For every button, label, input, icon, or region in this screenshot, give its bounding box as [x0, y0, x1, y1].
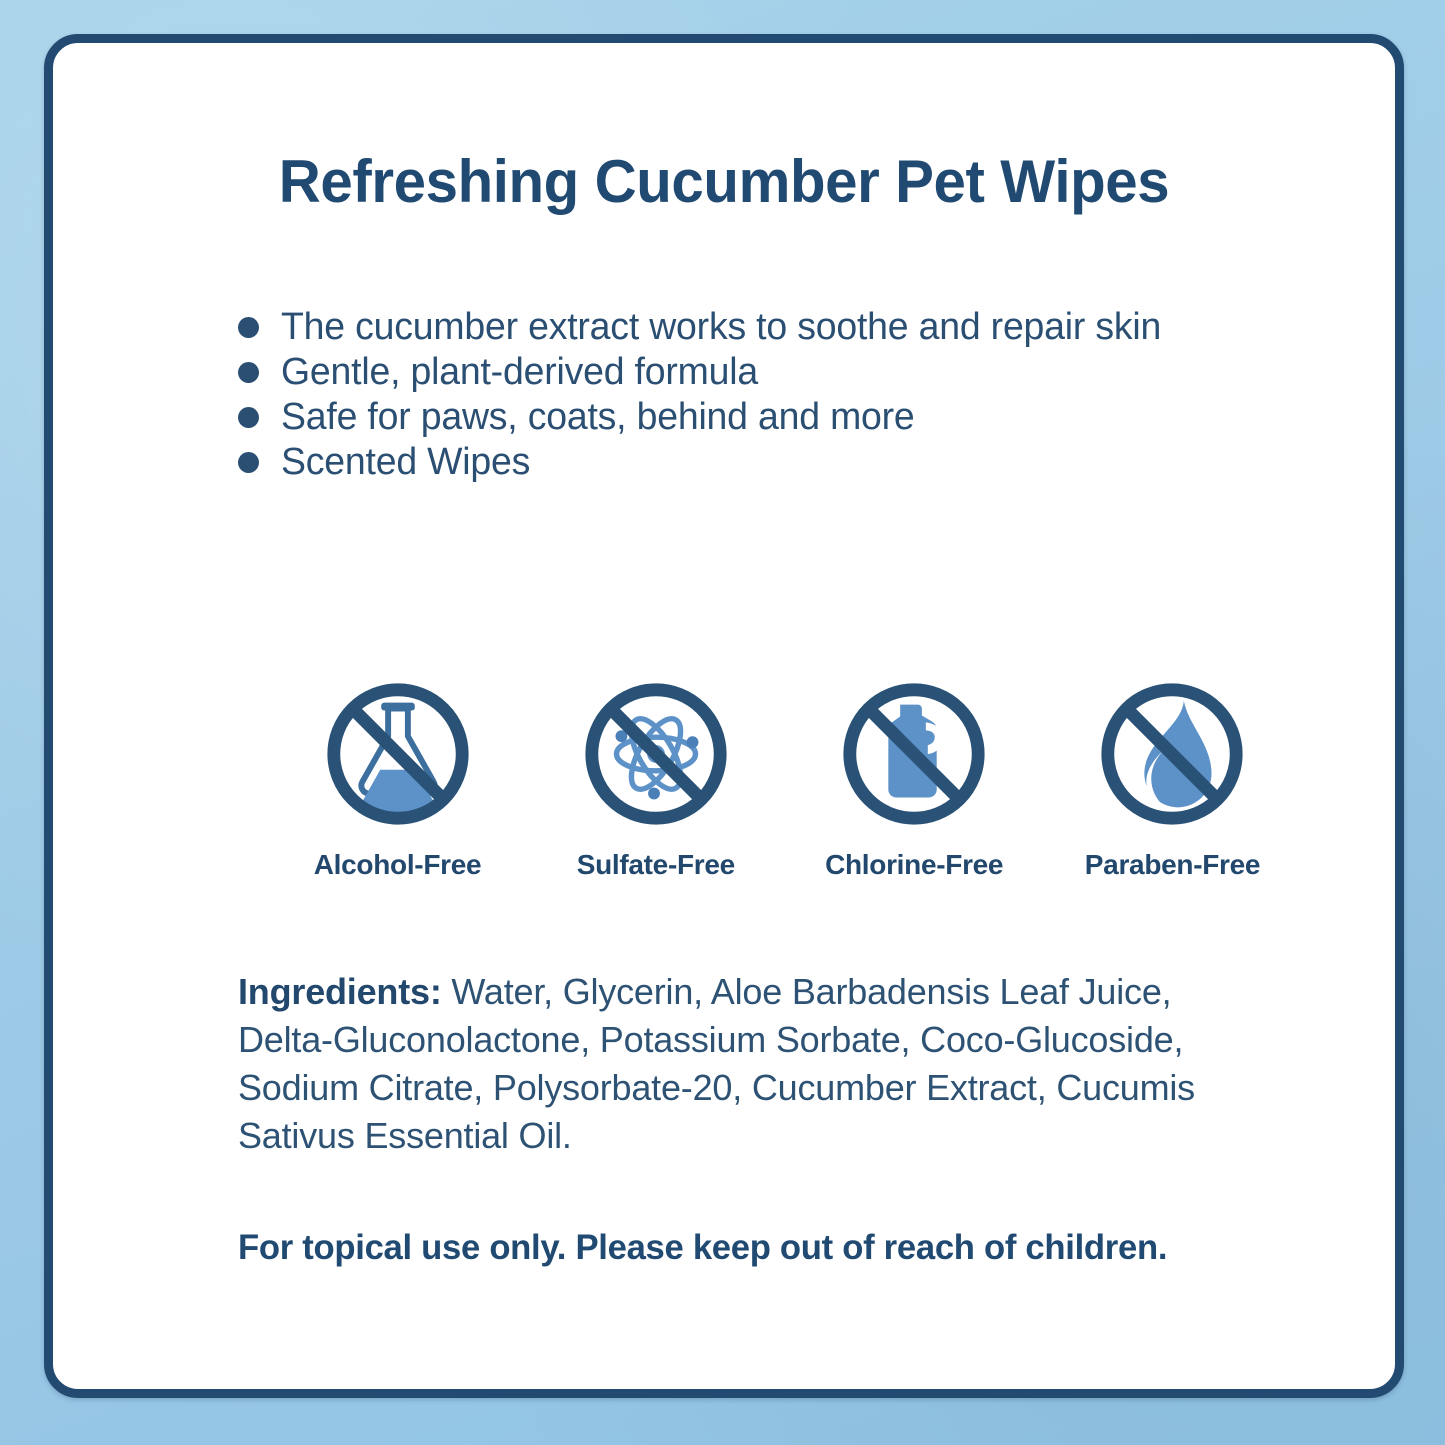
no-atom-icon — [576, 675, 736, 833]
list-item: Gentle, plant-derived formula — [238, 353, 1318, 389]
badge-label: Alcohol-Free — [305, 849, 490, 881]
ingredients-heading: Ingredients: — [238, 971, 442, 1012]
list-item: Safe for paws, coats, behind and more — [238, 398, 1318, 434]
bullet-dot-icon — [238, 452, 259, 473]
warning-text: For topical use only. Please keep out of… — [238, 1228, 1307, 1268]
benefit-text: Safe for paws, coats, behind and more — [281, 398, 915, 436]
benefits-list: The cucumber extract works to soothe and… — [238, 308, 1318, 488]
badge-paraben-free: Paraben-Free — [1080, 675, 1265, 881]
no-flask-icon — [318, 675, 478, 833]
badge-alcohol-free: Alcohol-Free — [305, 675, 490, 881]
badge-label: Paraben-Free — [1080, 849, 1265, 881]
no-jug-icon — [834, 675, 994, 833]
benefit-text: Gentle, plant-derived formula — [281, 353, 758, 391]
page-title: Refreshing Cucumber Pet Wipes — [73, 147, 1375, 216]
badge-chlorine-free: Chlorine-Free — [822, 675, 1007, 881]
badge-sulfate-free: Sulfate-Free — [563, 675, 748, 881]
badge-label: Sulfate-Free — [563, 849, 748, 881]
list-item: Scented Wipes — [238, 443, 1318, 479]
badge-label: Chlorine-Free — [822, 849, 1007, 881]
product-label-card: Refreshing Cucumber Pet Wipes The cucumb… — [44, 34, 1404, 1398]
label-content: Refreshing Cucumber Pet Wipes The cucumb… — [53, 43, 1395, 1389]
bullet-dot-icon — [238, 407, 259, 428]
free-from-badges: Alcohol-Free — [305, 675, 1265, 881]
benefit-text: The cucumber extract works to soothe and… — [281, 308, 1161, 346]
ingredients-paragraph: Ingredients: Water, Glycerin, Aloe Barba… — [238, 968, 1238, 1160]
bullet-dot-icon — [238, 317, 259, 338]
list-item: The cucumber extract works to soothe and… — [238, 308, 1318, 344]
bullet-dot-icon — [238, 362, 259, 383]
benefit-text: Scented Wipes — [281, 443, 530, 481]
no-droplet-icon — [1092, 675, 1252, 833]
